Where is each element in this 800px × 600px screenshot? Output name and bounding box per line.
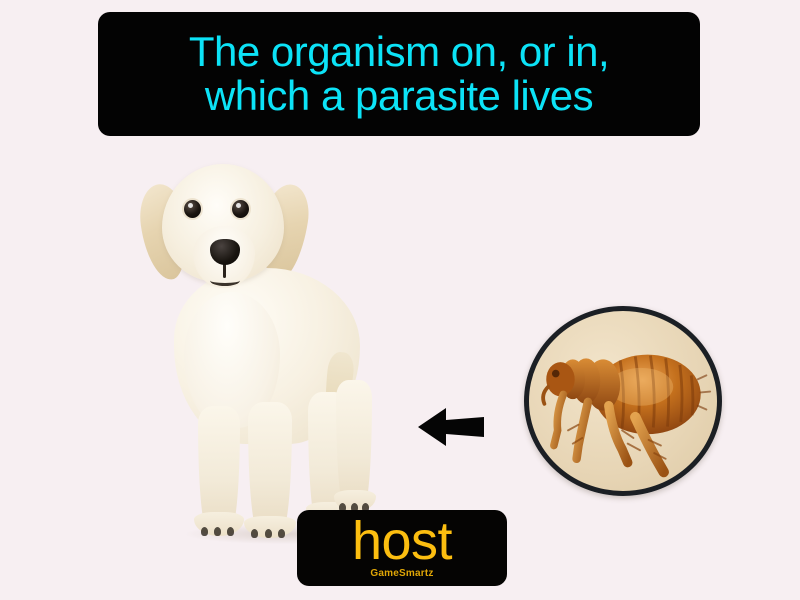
flashcard-canvas: The organism on, or in, which a parasite…: [0, 0, 800, 600]
watermark-label: GameSmartz: [297, 568, 507, 579]
dog-leg-back-right: [336, 380, 372, 506]
flea-icon: [529, 311, 717, 491]
dog-leg-front-right: [248, 402, 292, 530]
dog-eye-left: [184, 200, 201, 218]
definition-banner: The organism on, or in, which a parasite…: [98, 12, 700, 136]
flea-photo-circle: [524, 306, 722, 496]
dog-photo: [140, 156, 430, 536]
dog-eye-right: [232, 200, 249, 218]
term-banner: host GameSmartz: [297, 510, 507, 586]
left-pointing-arrow-icon: [416, 404, 486, 450]
dog-paw-back-right: [334, 490, 376, 512]
term-label: host: [297, 514, 507, 568]
definition-text: The organism on, or in, which a parasite…: [175, 30, 623, 118]
